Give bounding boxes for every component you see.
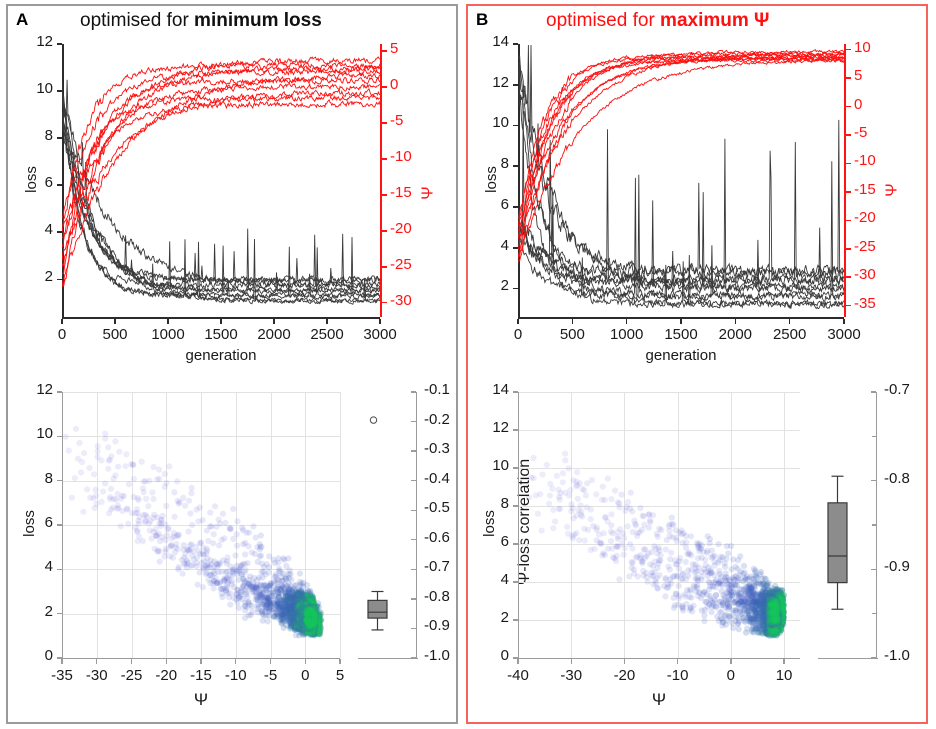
loss-trace	[62, 113, 380, 299]
psi-trace	[62, 83, 380, 267]
panel-b-title-strong: maximum Ψ	[660, 10, 769, 31]
loss-trace	[62, 125, 380, 284]
loss-trace	[62, 81, 380, 303]
psi-trace	[62, 77, 380, 274]
psi-trace	[62, 62, 380, 226]
boxplot-outlier	[370, 417, 376, 423]
boxplot-svg	[6, 380, 458, 720]
loss-trace	[62, 101, 380, 285]
loss-trace	[62, 96, 380, 299]
psi-trace	[62, 89, 380, 261]
top-traces-svg	[466, 30, 928, 375]
chart-a-bottom-scatter: 024681012loss-35-30-25-20-15-10-505Ψ-0.1…	[6, 380, 458, 720]
panel-a-title: optimised for minimum loss	[80, 10, 322, 32]
boxplot-box	[368, 600, 387, 618]
chart-b-top-lines: 2468101214loss1050-5-10-15-20-25-30-35Ψ0…	[466, 30, 928, 375]
panel-b-letter: B	[476, 10, 488, 30]
psi-trace	[62, 57, 380, 232]
chart-a-top-lines: 24681012loss50-5-10-15-20-25-30Ψ05001000…	[6, 30, 458, 375]
loss-trace	[62, 93, 380, 294]
chart-b-bottom-scatter: 02468101214loss-40-30-20-10010Ψ-0.7-0.8-…	[466, 380, 928, 720]
panel-a-title-strong: minimum loss	[194, 10, 322, 31]
top-traces-svg	[6, 30, 458, 375]
panel-b-title-prefix: optimised for	[546, 10, 660, 31]
panel-b-title: optimised for maximum Ψ	[546, 10, 769, 32]
psi-trace	[62, 94, 380, 247]
loss-trace	[518, 142, 844, 287]
panel-a-title-prefix: optimised for	[80, 10, 194, 31]
loss-trace	[62, 124, 380, 289]
panel-a-letter: A	[16, 10, 28, 30]
figure-root: A optimised for minimum loss B optimised…	[0, 0, 936, 729]
